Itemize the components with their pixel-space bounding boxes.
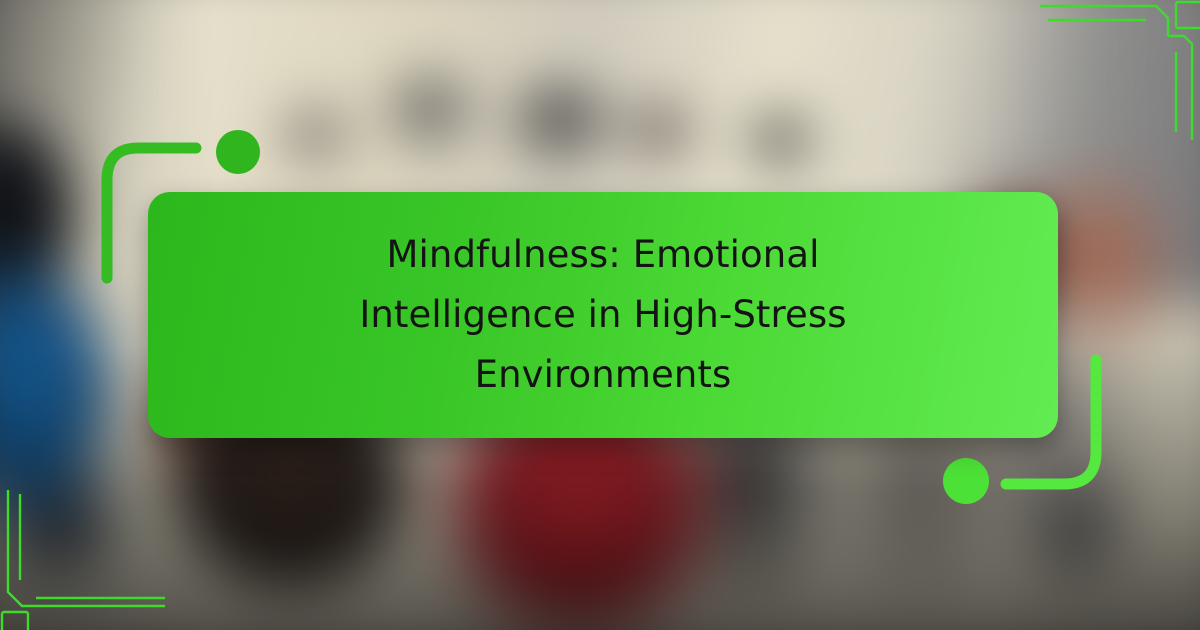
social-card-banner: Mindfulness: Emotional Intelligence in H… [0, 0, 1200, 630]
page-title: Mindfulness: Emotional Intelligence in H… [273, 225, 933, 405]
accent-dot-top-left [216, 130, 260, 174]
accent-dot-bottom-right [943, 458, 989, 504]
title-card: Mindfulness: Emotional Intelligence in H… [148, 192, 1058, 438]
